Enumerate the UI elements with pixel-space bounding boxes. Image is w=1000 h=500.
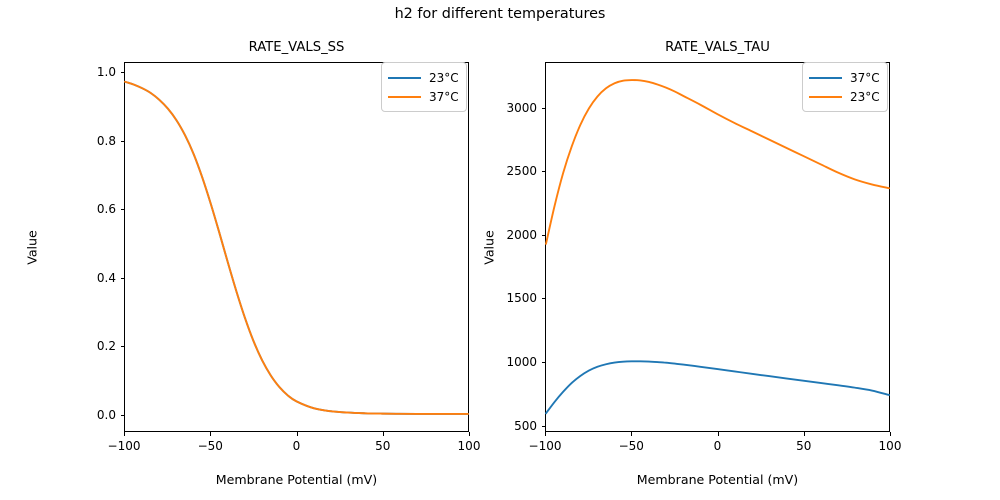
y-tick-label: 0.2 xyxy=(58,339,116,353)
y-tick-label: 2500 xyxy=(479,164,537,178)
legend-label: 37°C xyxy=(850,71,880,85)
x-tick-mark xyxy=(469,432,470,436)
legend-item[interactable]: 37°C xyxy=(388,87,459,106)
y-tick-mark xyxy=(121,415,125,416)
axes-left-ylabel: Value xyxy=(25,188,40,308)
y-tick-label: 1.0 xyxy=(58,65,116,79)
legend-item[interactable]: 23°C xyxy=(809,87,880,106)
x-tick-label: −100 xyxy=(529,439,562,453)
axes-rate-vals-tau: RATE_VALS_TAU xyxy=(545,62,890,432)
x-tick-label: 50 xyxy=(796,439,811,453)
y-tick-mark xyxy=(542,171,546,172)
y-tick-mark xyxy=(542,362,546,363)
x-tick-label: 0 xyxy=(293,439,301,453)
legend-item[interactable]: 37°C xyxy=(809,68,880,87)
x-tick-label: −50 xyxy=(619,439,644,453)
y-tick-label: 0.8 xyxy=(58,134,116,148)
legend-line-swatch xyxy=(388,77,421,79)
y-tick-label: 3000 xyxy=(479,101,537,115)
y-tick-label: 0.6 xyxy=(58,202,116,216)
series-line xyxy=(546,361,889,413)
x-tick-mark xyxy=(545,432,546,436)
x-tick-label: 100 xyxy=(458,439,481,453)
x-tick-label: −50 xyxy=(198,439,223,453)
x-tick-mark xyxy=(804,432,805,436)
legend-line-swatch xyxy=(809,77,842,79)
x-tick-mark xyxy=(890,432,891,436)
axes-left-xlabel: Membrane Potential (mV) xyxy=(124,472,469,487)
x-tick-mark xyxy=(297,432,298,436)
x-tick-mark xyxy=(718,432,719,436)
series-line xyxy=(125,82,468,414)
y-tick-mark xyxy=(121,72,125,73)
axes-right-plot-area xyxy=(546,63,889,431)
legend-item[interactable]: 23°C xyxy=(388,68,459,87)
x-tick-mark xyxy=(631,432,632,436)
x-tick-label: −100 xyxy=(108,439,141,453)
legend-line-swatch xyxy=(809,96,842,98)
x-tick-mark xyxy=(210,432,211,436)
y-tick-mark xyxy=(121,209,125,210)
axes-left-plot-area xyxy=(125,63,468,431)
axes-right-title: RATE_VALS_TAU xyxy=(546,40,889,55)
y-tick-mark xyxy=(542,426,546,427)
legend-line-swatch xyxy=(388,96,421,98)
y-tick-label: 0.0 xyxy=(58,408,116,422)
y-tick-mark xyxy=(542,235,546,236)
x-tick-label: 50 xyxy=(375,439,390,453)
x-tick-mark xyxy=(383,432,384,436)
legend-label: 37°C xyxy=(429,90,459,104)
y-tick-mark xyxy=(121,141,125,142)
series-line xyxy=(125,82,468,414)
axes-rate-vals-ss: RATE_VALS_SS xyxy=(124,62,469,432)
y-tick-label: 1000 xyxy=(479,355,537,369)
axes-left-legend[interactable]: 23°C 37°C xyxy=(381,62,467,112)
x-tick-label: 0 xyxy=(714,439,722,453)
axes-right-legend[interactable]: 37°C 23°C xyxy=(802,62,888,112)
axes-right-xlabel: Membrane Potential (mV) xyxy=(545,472,890,487)
y-tick-mark xyxy=(542,108,546,109)
axes-left-title: RATE_VALS_SS xyxy=(125,40,468,55)
y-tick-mark xyxy=(542,298,546,299)
figure-suptitle: h2 for different temperatures xyxy=(0,5,1000,23)
x-tick-mark xyxy=(124,432,125,436)
y-tick-mark xyxy=(121,278,125,279)
matplotlib-figure: h2 for different temperatures RATE_VALS_… xyxy=(0,0,1000,500)
y-tick-label: 500 xyxy=(479,419,537,433)
x-tick-label: 100 xyxy=(879,439,902,453)
y-tick-label: 0.4 xyxy=(58,271,116,285)
axes-right-ylabel: Value xyxy=(482,188,497,308)
y-tick-mark xyxy=(121,346,125,347)
legend-label: 23°C xyxy=(850,90,880,104)
legend-label: 23°C xyxy=(429,71,459,85)
